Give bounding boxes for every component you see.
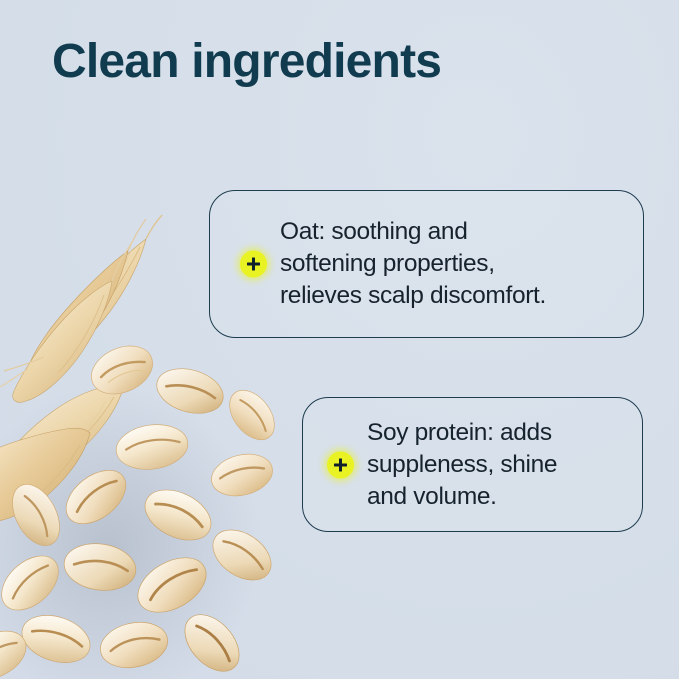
page-title: Clean ingredients [52,36,441,88]
ingredient-card-oat-text: Oat: soothing and softening properties, … [280,216,546,312]
plus-badge-oat [240,251,267,278]
plus-badge-soy [327,451,354,478]
ingredients-poster: Clean ingredients Oat: soothing and soft… [0,0,679,679]
ingredient-card-oat[interactable]: Oat: soothing and softening properties, … [209,190,644,338]
plus-icon [334,458,347,471]
plus-icon [247,258,260,271]
ingredient-card-soy[interactable]: Soy protein: adds suppleness, shine and … [302,397,643,532]
ingredient-card-soy-text: Soy protein: adds suppleness, shine and … [367,417,557,513]
